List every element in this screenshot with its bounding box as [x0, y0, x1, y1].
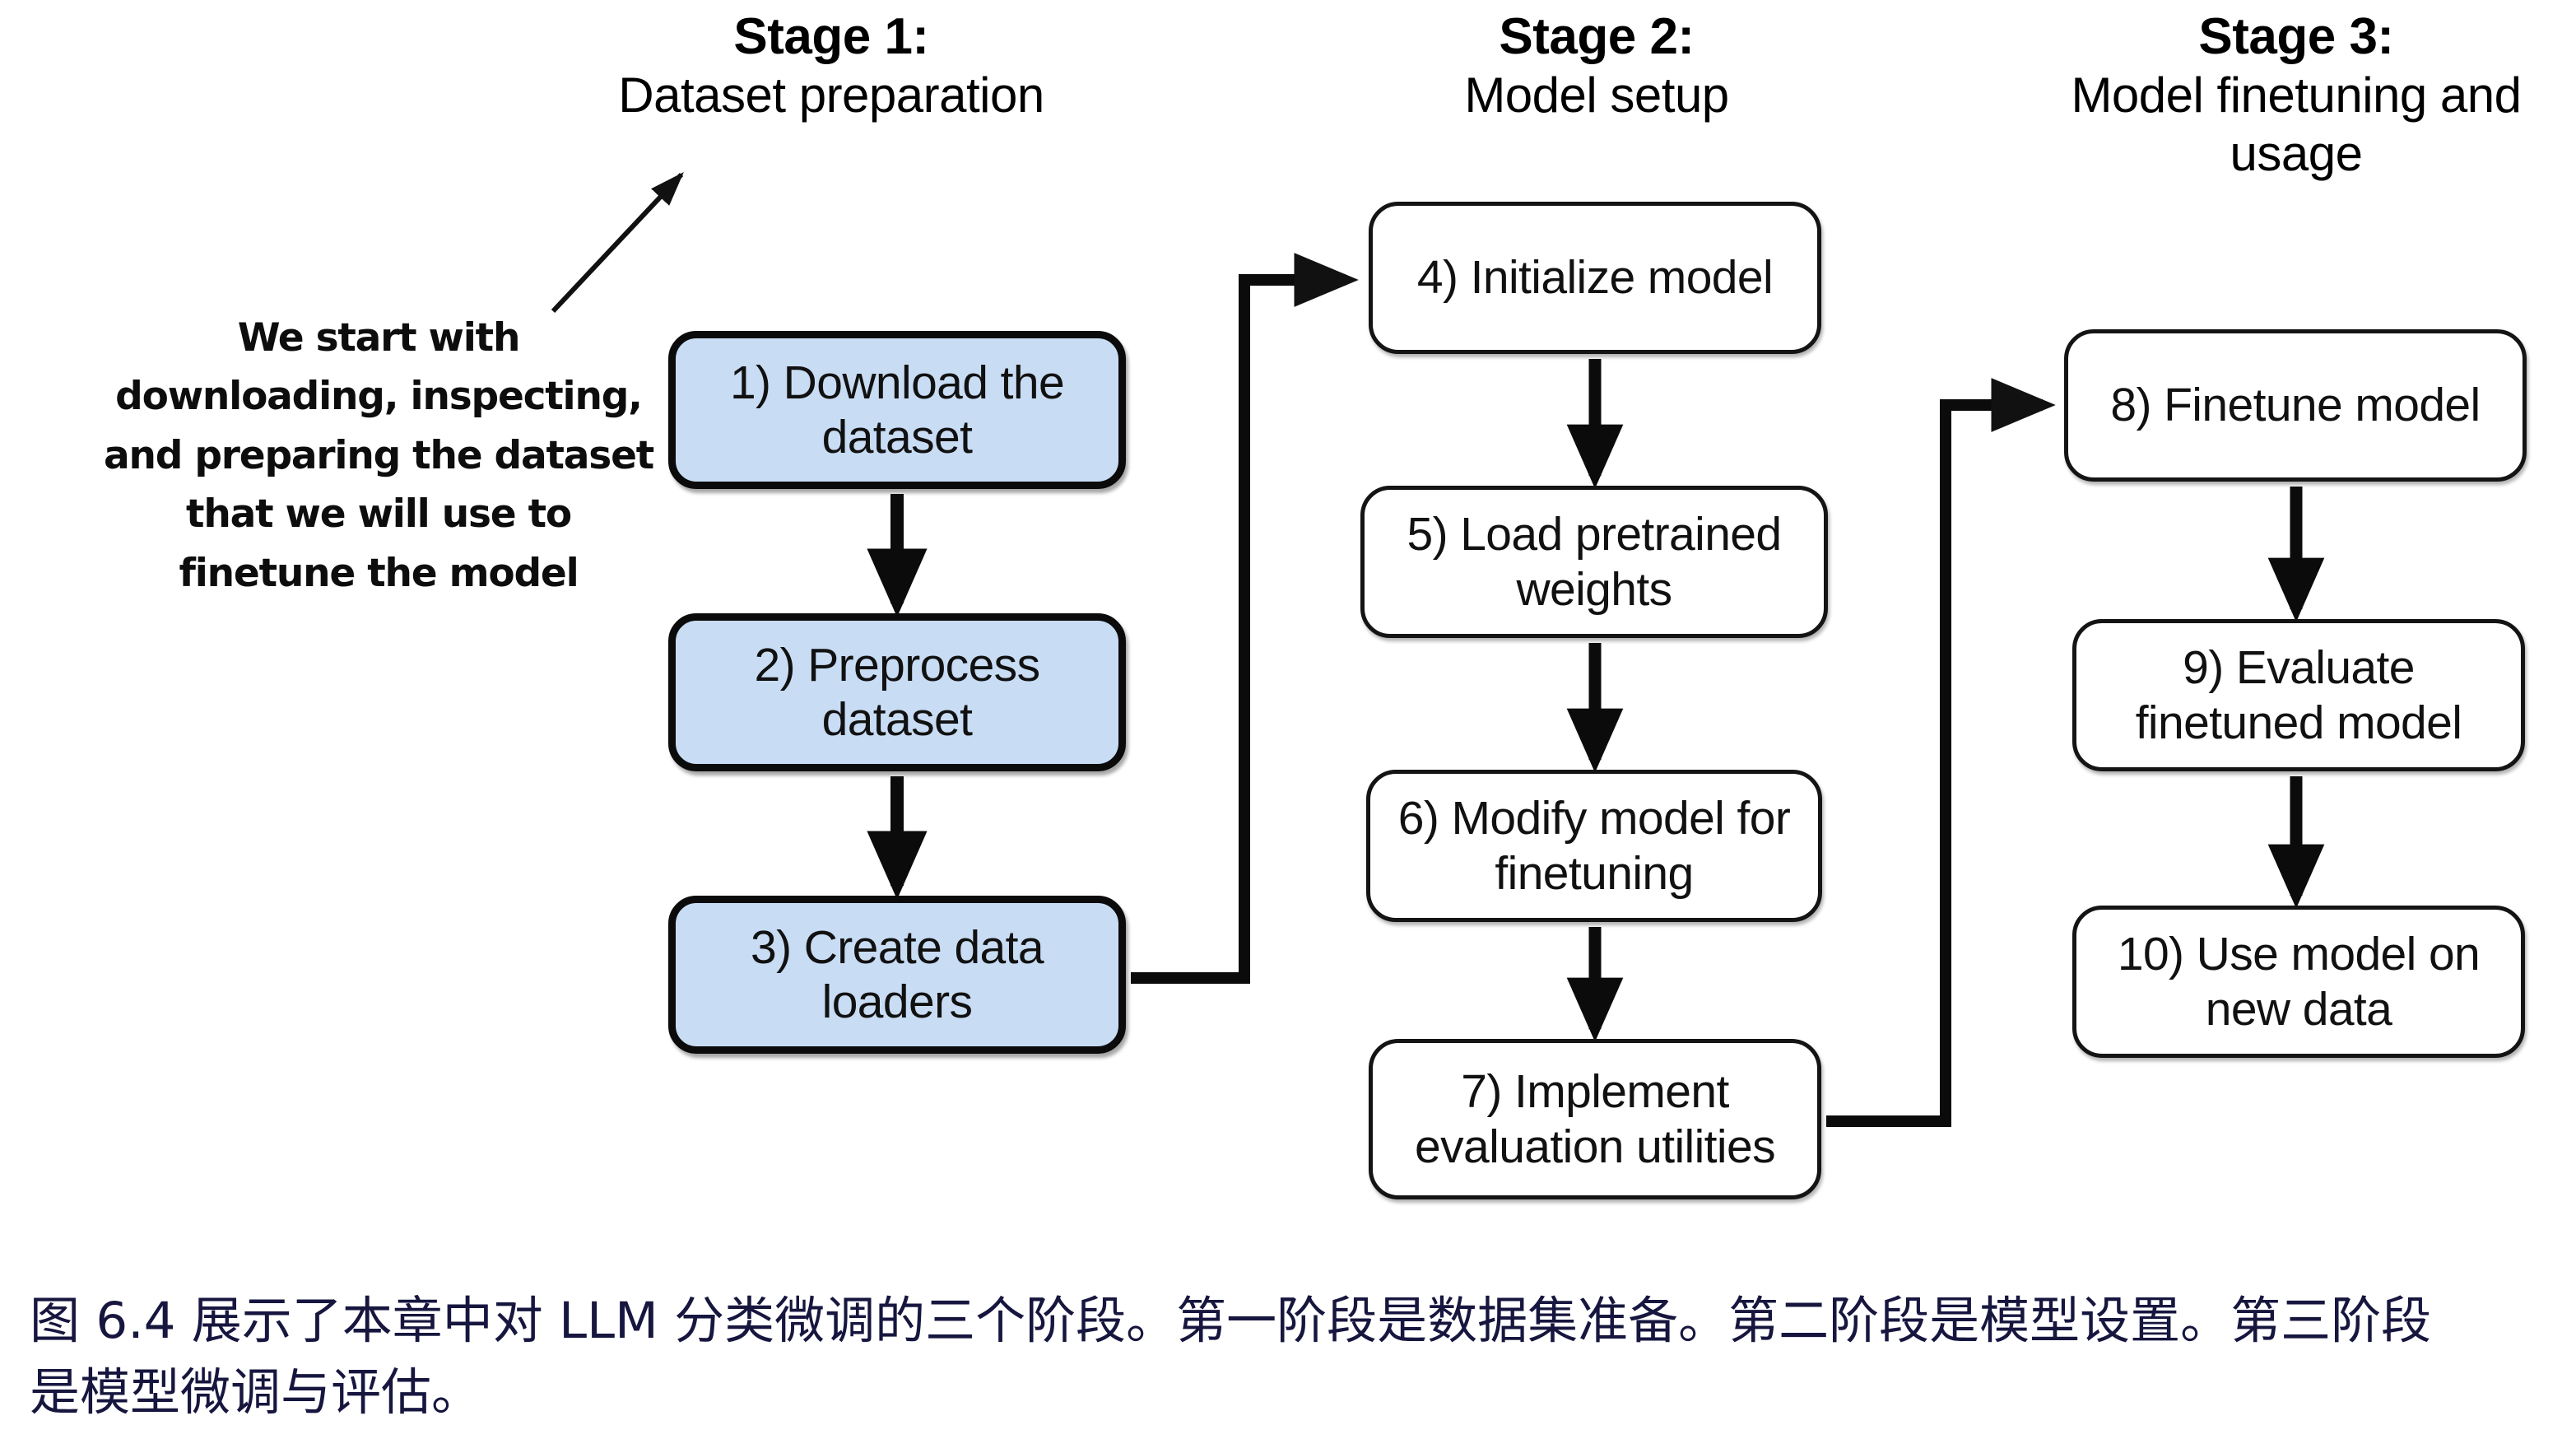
stage-1-header: Stage 1: Dataset preparation — [527, 7, 1136, 125]
node-implement-evaluation-utilities[interactable]: 7) Implement evaluation utilities — [1369, 1039, 1821, 1199]
node-7-label: 7) Implement evaluation utilities — [1373, 1064, 1817, 1173]
stage-1-subtitle: Dataset preparation — [527, 67, 1136, 125]
stage-2-subtitle: Model setup — [1309, 67, 1885, 125]
node-8-label: 8) Finetune model — [2104, 378, 2486, 432]
flow-diagram: Stage 1: Dataset preparation Stage 2: Mo… — [0, 0, 2576, 1260]
node-initialize-model[interactable]: 4) Initialize model — [1369, 202, 1821, 354]
stage-2-title: Stage 2: — [1309, 7, 1885, 67]
node-6-label: 6) Modify model for finetuning — [1370, 791, 1818, 900]
arrow-annotation-to-stage1 — [553, 175, 681, 311]
node-9-label: 9) Evaluate finetuned model — [2076, 640, 2521, 749]
caption-line-2: 是模型微调与评估。 — [30, 1358, 2548, 1429]
stage-3-subtitle: Model finetuning and usage — [2016, 67, 2576, 184]
node-10-label: 10) Use model on new data — [2076, 927, 2521, 1036]
node-load-pretrained-weights[interactable]: 5) Load pretrained weights — [1360, 486, 1828, 638]
node-use-model-on-new-data[interactable]: 10) Use model on new data — [2072, 906, 2525, 1058]
node-5-label: 5) Load pretrained weights — [1365, 507, 1824, 616]
caption-line-1: 图 6.4 展示了本章中对 LLM 分类微调的三个阶段。第一阶段是数据集准备。第… — [30, 1286, 2548, 1358]
stage-3-header: Stage 3: Model finetuning and usage — [2016, 7, 2576, 184]
arrow-node3-to-node4 — [1131, 280, 1346, 978]
figure-caption: 图 6.4 展示了本章中对 LLM 分类微调的三个阶段。第一阶段是数据集准备。第… — [30, 1286, 2548, 1428]
arrow-node7-to-node8 — [1826, 405, 2043, 1121]
node-download-dataset[interactable]: 1) Download the dataset — [668, 331, 1126, 489]
stage-3-title: Stage 3: — [2016, 7, 2576, 67]
node-finetune-model[interactable]: 8) Finetune model — [2064, 329, 2527, 482]
stage-2-header: Stage 2: Model setup — [1309, 7, 1885, 125]
node-modify-model-for-finetuning[interactable]: 6) Modify model for finetuning — [1366, 770, 1822, 922]
node-3-label: 3) Create data loaders — [676, 920, 1118, 1029]
node-preprocess-dataset[interactable]: 2) Preprocess dataset — [668, 613, 1126, 771]
annotation-note: We start with downloading, inspecting, a… — [99, 309, 658, 603]
node-1-label: 1) Download the dataset — [676, 356, 1118, 464]
node-evaluate-finetuned-model[interactable]: 9) Evaluate finetuned model — [2072, 619, 2525, 771]
node-create-data-loaders[interactable]: 3) Create data loaders — [668, 896, 1126, 1054]
node-4-label: 4) Initialize model — [1411, 250, 1779, 305]
node-2-label: 2) Preprocess dataset — [676, 638, 1118, 747]
stage-1-title: Stage 1: — [527, 7, 1136, 67]
